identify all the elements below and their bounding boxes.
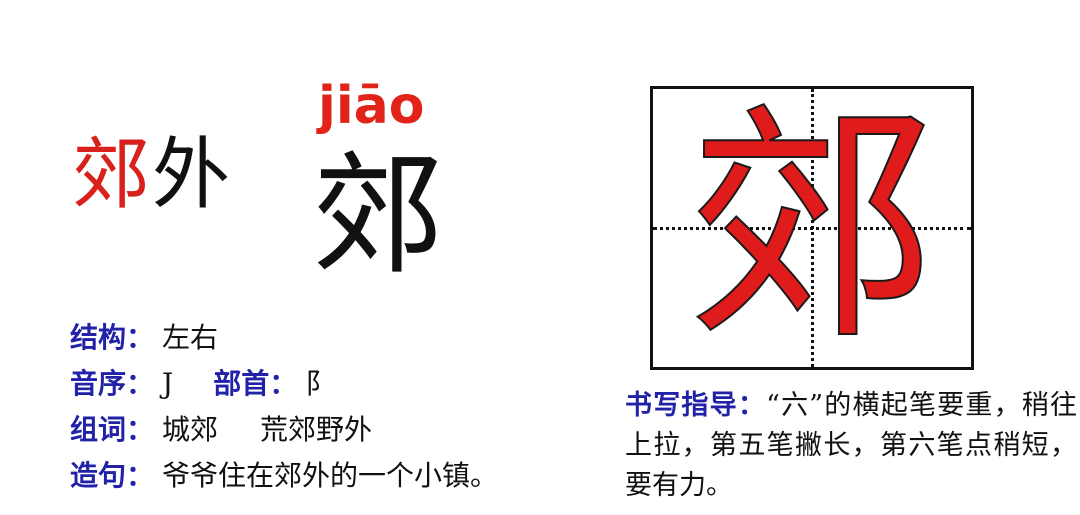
writing-guidance-label: 书写指导： [625,390,766,421]
info-row-structure: 结构： 左右 [70,316,615,362]
practice-grid-character: 郊 [653,89,971,367]
info-label-sentence: 造句： [70,454,154,494]
headword-character: 郊 [312,150,444,282]
character-learning-card: 郊 外 jiāo 郊 结构： 左右 音序： J 部首： 阝 组词： 城郊 荒郊野… [0,0,1080,515]
writing-guidance: 书写指导：“六”的横起笔要重，稍往上拉，第五笔撇长，第六笔点稍短，要有力。 [625,386,1077,506]
character-info-list: 结构： 左右 音序： J 部首： 阝 组词： 城郊 荒郊野外 造句： 爷爷住在郊… [70,316,615,500]
vocabulary-word: 郊 外 [72,136,232,214]
pinyin-label: jiāo [318,80,424,132]
info-row-initial-and-radical: 音序： J 部首： 阝 [70,362,615,408]
info-label-structure: 结构： [70,316,154,356]
info-label-initial: 音序： [70,362,154,402]
info-value-radical: 阝 [305,362,333,402]
left-panel: 郊 外 jiāo 郊 结构： 左右 音序： J 部首： 阝 组词： 城郊 荒郊野… [0,0,620,515]
info-row-sentence: 造句： 爷爷住在郊外的一个小镇。 [70,454,615,500]
vocabulary-word-char-second: 外 [152,136,232,214]
practice-grid-box: 郊 [650,86,974,370]
info-label-words: 组词： [70,408,154,448]
info-value-structure: 左右 [162,316,218,356]
info-value-sentence: 爷爷住在郊外的一个小镇。 [162,454,498,494]
right-panel: 郊 书写指导：“六”的横起笔要重，稍往上拉，第五笔撇长，第六笔点稍短，要有力。 [620,0,1080,515]
vocabulary-word-char-highlight: 郊 [72,136,152,214]
info-label-radical: 部首： [213,362,297,402]
info-value-initial: J [162,367,173,400]
info-value-word-two: 荒郊野外 [260,408,372,448]
info-value-word-one: 城郊 [162,408,218,448]
info-row-words: 组词： 城郊 荒郊野外 [70,408,615,454]
